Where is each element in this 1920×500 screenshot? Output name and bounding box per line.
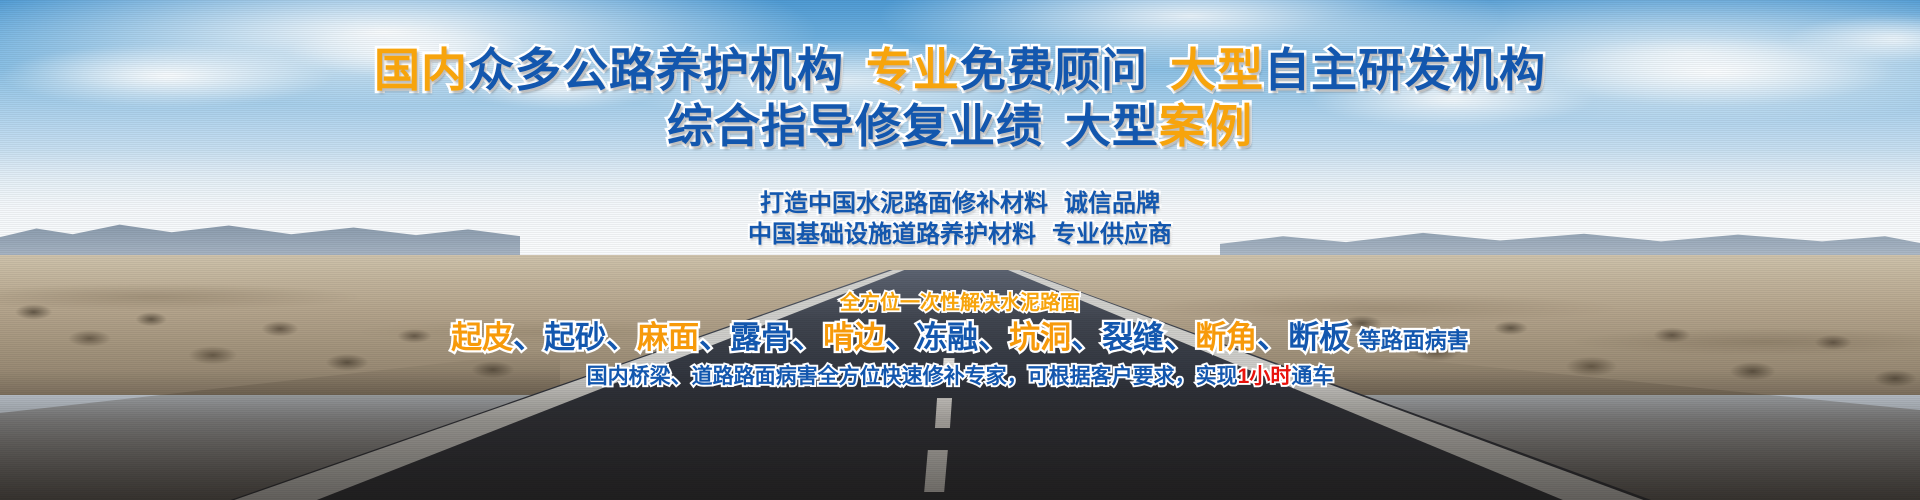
headline-line-2: 综合指导修复业绩大型案例	[0, 100, 1920, 152]
damage-type-2: 起砂	[544, 320, 606, 355]
headline-2-segment-1: 综合指导修复业绩	[667, 100, 1043, 152]
damage-separator-5: 、	[885, 320, 916, 355]
damage-type-1: 起皮	[451, 320, 513, 355]
subtitle-block: 打造中国水泥路面修补材料诚信品牌 中国基础设施道路养护材料专业供应商	[0, 188, 1920, 250]
damage-separator-9: 、	[1257, 320, 1288, 355]
subtitle-line-1: 打造中国水泥路面修补材料诚信品牌	[0, 188, 1920, 219]
damage-tail-label: 等路面病害	[1359, 328, 1469, 353]
subtitle-1-right: 诚信品牌	[1064, 190, 1160, 217]
damage-type-10: 断板	[1288, 320, 1350, 355]
damage-separator-4: 、	[792, 320, 823, 355]
closing-segment-1: 国内桥梁、道路路面病害全方位快速修补专家，可根据客户要求，实现	[587, 365, 1238, 388]
banner-text-content: 国内众多公路养护机构专业免费顾问大型自主研发机构 综合指导修复业绩大型案例 打造…	[0, 0, 1920, 500]
damage-separator-8: 、	[1164, 320, 1195, 355]
damage-separator-3: 、	[699, 320, 730, 355]
subtitle-1-left: 打造中国水泥路面修补材料	[760, 190, 1048, 217]
headline-line-1: 国内众多公路养护机构专业免费顾问大型自主研发机构	[0, 44, 1920, 96]
damage-separator-7: 、	[1071, 320, 1102, 355]
headline-1-segment-4: 免费顾问	[960, 44, 1148, 96]
headline-1-segment-5: 大型	[1170, 44, 1264, 96]
headline-1-segment-3: 专业	[866, 44, 960, 96]
closing-line: 国内桥梁、道路路面病害全方位快速修补专家，可根据客户要求，实现1小时通车	[0, 363, 1920, 391]
headline-2-segment-3: 案例	[1159, 100, 1253, 152]
lower-message-block: 全方位一次性解决水泥路面 起皮、起砂、麻面、露骨、啃边、冻融、坑洞、裂缝、断角、…	[0, 290, 1920, 391]
closing-segment-3: 通车	[1291, 365, 1333, 388]
headline-1-segment-1: 国内	[374, 44, 468, 96]
damage-type-8: 裂缝	[1102, 320, 1164, 355]
headline-1-segment-6: 自主研发机构	[1264, 44, 1546, 96]
damage-type-4: 露骨	[730, 320, 792, 355]
damage-types-line: 起皮、起砂、麻面、露骨、啃边、冻融、坑洞、裂缝、断角、断板 等路面病害	[0, 318, 1920, 361]
promotional-banner: 国内众多公路养护机构专业免费顾问大型自主研发机构 综合指导修复业绩大型案例 打造…	[0, 0, 1920, 500]
damage-type-5: 啃边	[823, 320, 885, 355]
damage-type-3: 麻面	[637, 320, 699, 355]
lower-lead-line: 全方位一次性解决水泥路面	[0, 290, 1920, 316]
subtitle-2-right: 专业供应商	[1052, 221, 1172, 248]
subtitle-2-left: 中国基础设施道路养护材料	[748, 221, 1036, 248]
damage-separator-2: 、	[606, 320, 637, 355]
subtitle-line-2: 中国基础设施道路养护材料专业供应商	[0, 219, 1920, 250]
damage-separator-6: 、	[978, 320, 1009, 355]
damage-type-9: 断角	[1195, 320, 1257, 355]
damage-type-7: 坑洞	[1009, 320, 1071, 355]
headline-2-segment-2: 大型	[1065, 100, 1159, 152]
damage-type-6: 冻融	[916, 320, 978, 355]
damage-separator-1: 、	[513, 320, 544, 355]
closing-highlight-one-hour: 1小时	[1238, 365, 1292, 388]
damage-separator-10	[1350, 320, 1359, 355]
headline-1-segment-2: 众多公路养护机构	[468, 44, 844, 96]
